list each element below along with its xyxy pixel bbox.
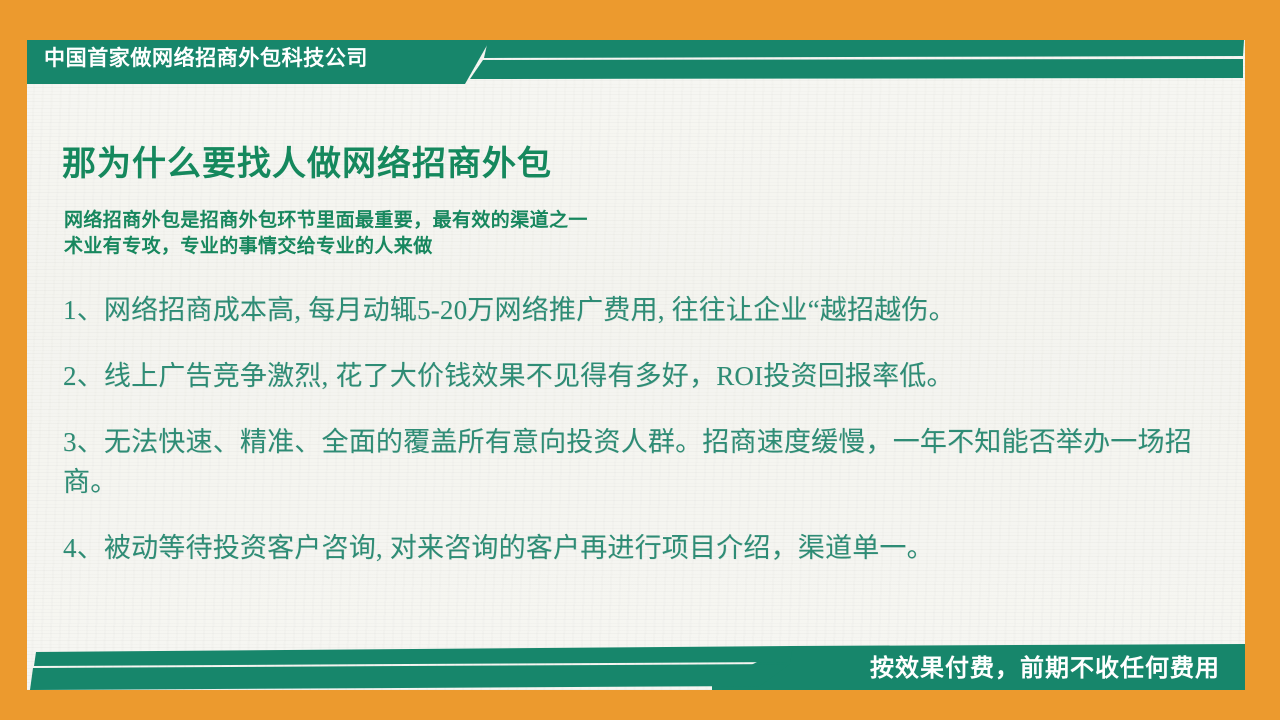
page-title: 那为什么要找人做网络招商外包 — [62, 136, 552, 185]
header-band-lower-strip — [470, 59, 1243, 79]
slide-body: 那为什么要找人做网络招商外包 网络招商外包是招商外包环节里面最重要，最有效的渠道… — [27, 100, 1245, 645]
subtitle-line-2: 术业有专攻，专业的事情交给专业的人来做 — [64, 234, 588, 260]
points-list: 1、网络招商成本高, 每月动辄5-20万网络推广费用, 往往让企业“越招越伤。 … — [63, 290, 1223, 568]
footer-band-upper-strip — [34, 646, 793, 666]
point-item-3: 3、无法快速、精准、全面的覆盖所有意向投资人群。招商速度缓慢，一年不知能否举办一… — [63, 422, 1223, 502]
point-item-1: 1、网络招商成本高, 每月动辄5-20万网络推广费用, 往往让企业“越招越伤。 — [63, 290, 1223, 330]
slide-root: 中国首家做网络招商外包科技公司 那为什么要找人做网络招商外包 网络招商外包是招商… — [0, 0, 1280, 720]
point-item-4: 4、被动等待投资客户咨询, 对来咨询的客户再进行项目介绍，渠道单一。 — [63, 528, 1223, 568]
footer-slogan: 按效果付费，前期不收任何费用 — [870, 648, 1220, 683]
frame-left — [0, 0, 27, 720]
header-title: 中国首家做网络招商外包科技公司 — [44, 44, 368, 74]
header-band-upper-strip — [484, 40, 1244, 58]
frame-bottom — [0, 690, 1280, 720]
subtitle-line-1: 网络招商外包是招商外包环节里面最重要，最有效的渠道之一 — [64, 208, 588, 234]
subtitle-block: 网络招商外包是招商外包环节里面最重要，最有效的渠道之一 术业有专攻，专业的事情交… — [64, 208, 588, 260]
point-item-2: 2、线上广告竞争激烈, 花了大价钱效果不见得有多好，ROI投资回报率低。 — [63, 356, 1223, 396]
footer-band-lower-strip — [30, 664, 790, 690]
frame-right — [1245, 0, 1280, 720]
frame-top — [0, 0, 1280, 40]
